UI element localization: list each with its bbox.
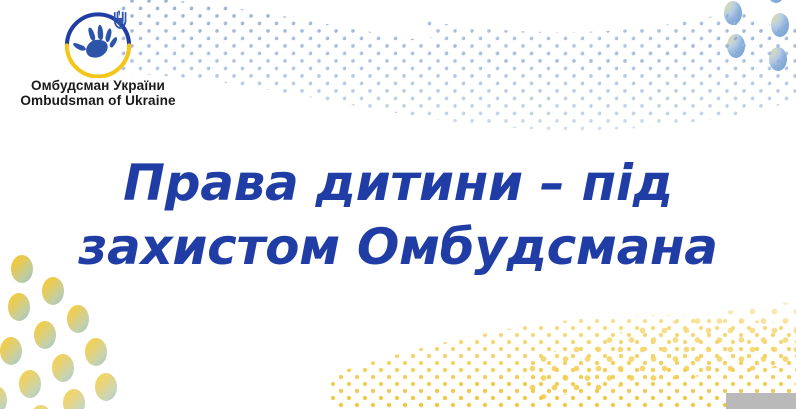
slide-title: Права дитини – під захистом Омбудсмана (0, 151, 796, 279)
bottom-right-gray-bar (726, 393, 796, 409)
title-line-1: Права дитини – під (0, 151, 796, 215)
logo-text-ua: Омбудсман України (8, 78, 188, 93)
presentation-slide: Омбудсман України Ombudsman of Ukraine П… (0, 0, 796, 409)
ombudsman-emblem-icon (61, 4, 135, 78)
blue-dot-wave-top-icon (120, 0, 796, 170)
logo-block: Омбудсман України Ombudsman of Ukraine (8, 4, 188, 108)
yellow-dot-wave-bottom-icon (330, 269, 796, 409)
title-line-2: захистом Омбудсмана (0, 215, 796, 279)
logo-text-en: Ombudsman of Ukraine (8, 93, 188, 108)
